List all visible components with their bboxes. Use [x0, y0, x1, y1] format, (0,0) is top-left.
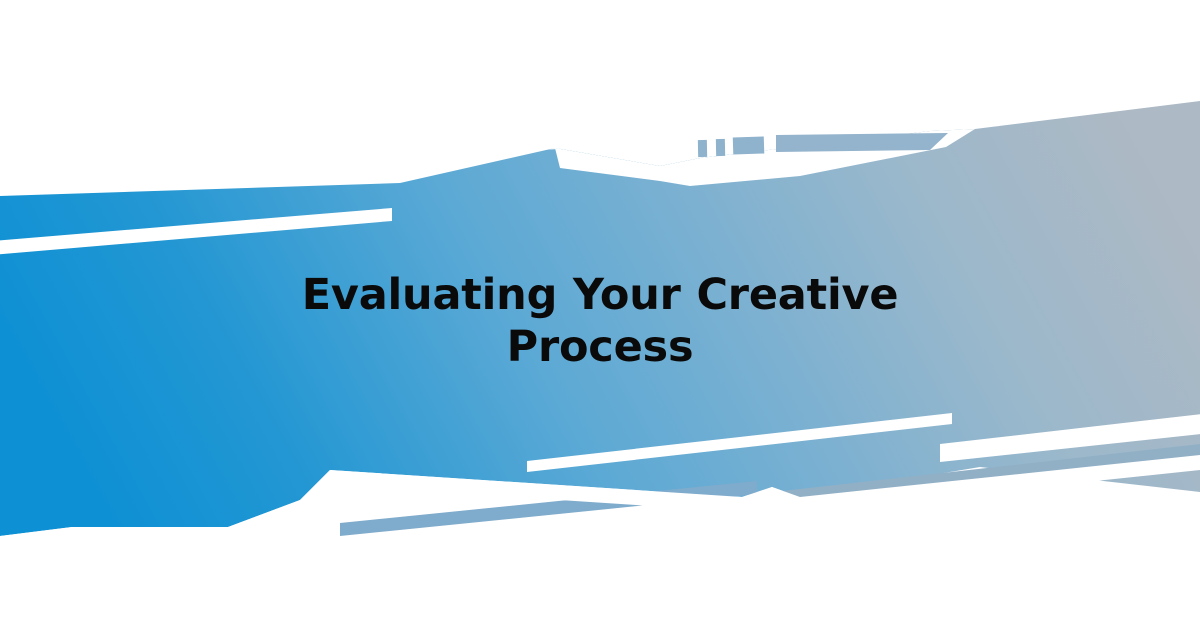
- dash-mark-4: [776, 133, 948, 152]
- banner-artwork: [0, 0, 1200, 630]
- dash-mark-2: [716, 139, 725, 156]
- dash-mark-1: [698, 140, 707, 157]
- banner-canvas: Evaluating Your Creative Process: [0, 0, 1200, 630]
- dash-mark-3: [733, 137, 765, 155]
